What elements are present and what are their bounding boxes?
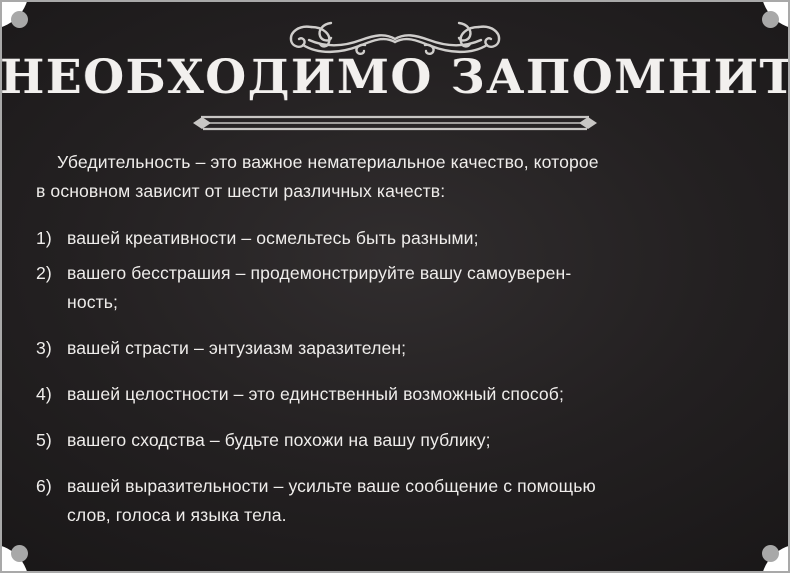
list-item-marker: 2) [36, 259, 62, 288]
list-item-text: вашего сходства – будьте похожи на вашу … [67, 426, 748, 455]
list-item-marker: 3) [36, 334, 62, 363]
body-text-block: Убедительность – это важное нематериальн… [36, 148, 748, 530]
list-item: 4) вашей целостности – это единственный … [36, 380, 748, 409]
list-item-marker: 4) [36, 380, 62, 409]
list-item-marker: 5) [36, 426, 62, 455]
list-item-text: вашей креативности – осмельтесь быть раз… [67, 224, 748, 253]
grommet-icon [11, 11, 28, 28]
poster-content: НЕОБХОДИМО ЗАПОМНИТЬ Убедительность – эт… [0, 0, 790, 573]
list-item-continuation: ность; [67, 288, 748, 317]
page-title: НЕОБХОДИМО ЗАПОМНИТЬ [0, 52, 790, 104]
page-title-text: НЕОБХОДИМО ЗАПОМНИТЬ [0, 52, 790, 104]
qualities-list: 1) вашей креативности – осмельтесь быть … [36, 224, 748, 530]
intro-line-1: Убедительность – это важное нематериальн… [57, 152, 599, 172]
list-item: 6) вашей выразительности – усильте ваше … [36, 472, 748, 530]
diamond-rule-divider [177, 110, 613, 136]
intro-paragraph: Убедительность – это важное нематериальн… [36, 148, 748, 206]
poster-board: НЕОБХОДИМО ЗАПОМНИТЬ Убедительность – эт… [0, 0, 790, 573]
list-item-continuation: слов, голоса и языка тела. [67, 501, 748, 530]
list-item: 3) вашей страсти – энтузиазм заразителен… [36, 334, 748, 363]
list-item-marker: 1) [36, 224, 62, 253]
grommet-icon [762, 545, 779, 562]
list-item-text: вашей целостности – это единственный воз… [67, 380, 748, 409]
list-item-text: вашей выразительности – усильте ваше соо… [67, 472, 748, 501]
list-item: 2) вашего бесстрашия – продемонстрируйте… [36, 259, 748, 317]
list-item-text: вашей страсти – энтузиазм заразителен; [67, 334, 748, 363]
intro-line-2: в основном зависит от шести различных ка… [36, 177, 748, 206]
list-item-text: вашего бесстрашия – продемонстрируйте ва… [67, 259, 748, 288]
list-item: 1) вашей креативности – осмельтесь быть … [36, 224, 748, 253]
grommet-icon [762, 11, 779, 28]
list-item: 5) вашего сходства – будьте похожи на ва… [36, 426, 748, 455]
grommet-icon [11, 545, 28, 562]
list-item-marker: 6) [36, 472, 62, 501]
